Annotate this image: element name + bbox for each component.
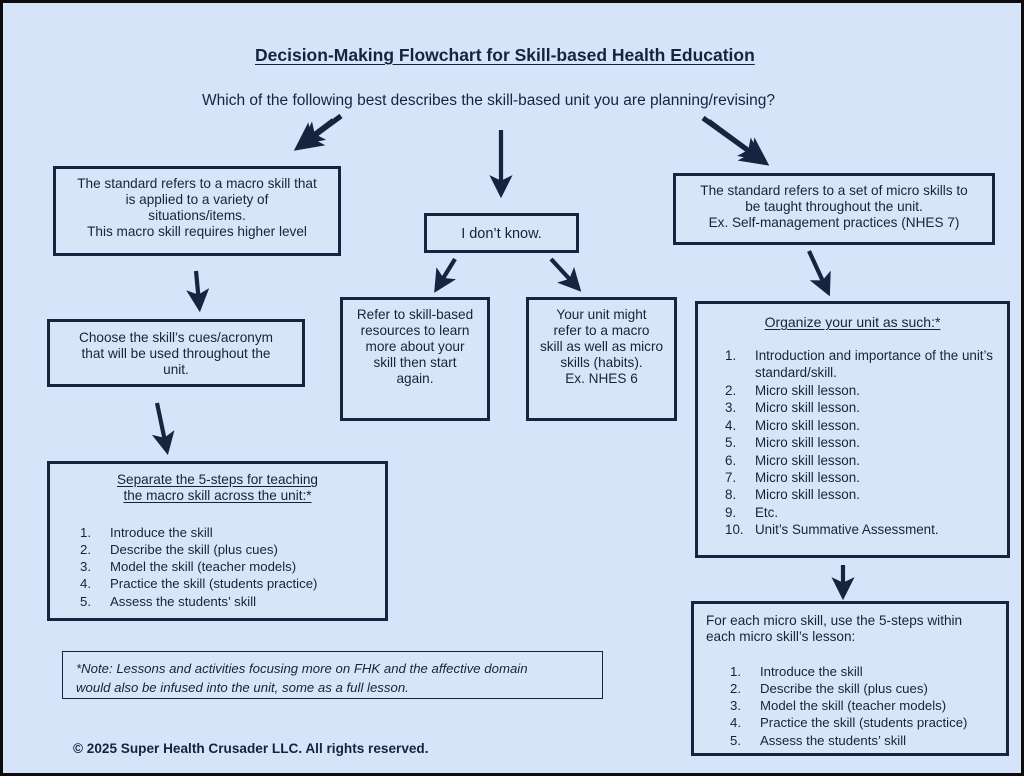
list-item: 1. Introduce the skill — [80, 524, 377, 541]
box-note: *Note: Lessons and activities focusing m… — [62, 651, 603, 699]
list-item: 10. Unit’s Summative Assessment. — [725, 521, 997, 538]
box-organize-unit-header: Organize your unit as such:* — [698, 314, 1007, 331]
box-separate-steps-header-line1: Separate the 5-steps for teaching — [50, 472, 385, 488]
list-item-label: Introduction and importance of the unit’… — [755, 347, 997, 382]
box-choose-cues-line2: that will be used throughout the — [50, 346, 302, 362]
box-unit-might-line5: Ex. NHES 6 — [529, 371, 674, 387]
separate-steps-list: 1. Introduce the skill 2. Describe the s… — [80, 524, 377, 610]
box-unit-might-line2: refer to a macro — [529, 323, 674, 339]
list-item-label: Micro skill lesson. — [755, 452, 997, 469]
box-unit-might-line4: skills (habits). — [529, 355, 674, 371]
arrow-question-to-micro-shaft — [703, 118, 760, 159]
list-item-number: 1. — [725, 347, 755, 382]
list-item-label: Micro skill lesson. — [755, 417, 997, 434]
box-micro-standard-line1: The standard refers to a set of micro sk… — [676, 183, 992, 199]
list-item-label: Model the skill (teacher models) — [110, 558, 377, 575]
box-refer-resources: Refer to skill-based resources to learn … — [340, 297, 490, 421]
list-item: 7. Micro skill lesson. — [725, 469, 997, 486]
list-item-number: 4. — [725, 417, 755, 434]
list-item: 4. Practice the skill (students practice… — [80, 575, 377, 592]
list-item-label: Micro skill lesson. — [755, 399, 997, 416]
note-line2: would also be infused into the unit, som… — [76, 678, 594, 697]
arrow-choose-cues-to-separate-steps — [157, 403, 166, 446]
list-item-label: Micro skill lesson. — [755, 434, 997, 451]
arrow-dontknow-to-refer-resources — [439, 259, 455, 285]
box-organize-unit: Organize your unit as such:* 1. Introduc… — [695, 301, 1010, 558]
root-question: Which of the following best describes th… — [202, 92, 775, 110]
arrow-question-to-micro — [709, 121, 755, 155]
list-item: 5. Assess the students’ skill — [730, 732, 998, 749]
list-item: 5. Micro skill lesson. — [725, 434, 997, 451]
copyright-text: © 2025 Super Health Crusader LLC. All ri… — [73, 741, 429, 756]
box-separate-steps-header-line2: the macro skill across the unit:* — [50, 488, 385, 504]
list-item-label: Micro skill lesson. — [755, 382, 997, 399]
list-item: 3. Micro skill lesson. — [725, 399, 997, 416]
box-choose-cues: Choose the skill’s cues/acronym that wil… — [47, 319, 305, 387]
list-item: 2. Micro skill lesson. — [725, 382, 997, 399]
box-choose-cues-line1: Choose the skill’s cues/acronym — [50, 330, 302, 346]
list-item-label: Introduce the skill — [110, 524, 377, 541]
arrow-question-to-macro — [308, 120, 333, 139]
list-item-number: 3. — [725, 399, 755, 416]
box-unit-might-line1: Your unit might — [529, 307, 674, 323]
list-item-label: Assess the students’ skill — [110, 593, 377, 610]
list-item: 3. Model the skill (teacher models) — [730, 697, 998, 714]
list-item-number: 1. — [80, 524, 110, 541]
box-refer-resources-line1: Refer to skill-based — [343, 307, 487, 323]
list-item: 1. Introduction and importance of the un… — [725, 347, 997, 382]
list-item-number: 2. — [80, 541, 110, 558]
box-micro-five-steps-header-line2: each micro skill’s lesson: — [706, 629, 996, 645]
list-item-number: 2. — [725, 382, 755, 399]
list-item: 2. Describe the skill (plus cues) — [80, 541, 377, 558]
box-macro-standard-line3: situations/items. — [56, 208, 338, 224]
box-macro-standard: The standard refers to a macro skill tha… — [53, 166, 341, 256]
list-item-number: 2. — [730, 680, 760, 697]
page-title: Decision-Making Flowchart for Skill-base… — [255, 45, 755, 66]
list-item-label: Describe the skill (plus cues) — [760, 680, 998, 697]
list-item-label: Unit’s Summative Assessment. — [755, 521, 997, 538]
list-item-label: Introduce the skill — [760, 663, 998, 680]
list-item: 3. Model the skill (teacher models) — [80, 558, 377, 575]
list-item: 9. Etc. — [725, 504, 997, 521]
list-item-number: 3. — [80, 558, 110, 575]
box-micro-five-steps: For each micro skill, use the 5-steps wi… — [691, 601, 1009, 756]
list-item-number: 7. — [725, 469, 755, 486]
list-item-number: 4. — [80, 575, 110, 592]
list-item: 4. Micro skill lesson. — [725, 417, 997, 434]
list-item-label: Micro skill lesson. — [755, 469, 997, 486]
arrow-macro-to-choose-cues — [196, 271, 199, 303]
arrow-micro-to-organize-unit — [809, 251, 826, 288]
list-item-number: 5. — [80, 593, 110, 610]
box-micro-five-steps-header-line1: For each micro skill, use the 5-steps wi… — [706, 613, 996, 629]
box-refer-resources-line2: resources to learn — [343, 323, 487, 339]
list-item-number: 5. — [730, 732, 760, 749]
list-item-label: Practice the skill (students practice) — [760, 714, 998, 731]
box-refer-resources-line4: skill then start — [343, 355, 487, 371]
box-refer-resources-line5: again. — [343, 371, 487, 387]
micro-five-steps-list: 1. Introduce the skill 2. Describe the s… — [730, 663, 998, 749]
list-item: 1. Introduce the skill — [730, 663, 998, 680]
list-item: 8. Micro skill lesson. — [725, 486, 997, 503]
box-separate-steps: Separate the 5-steps for teaching the ma… — [47, 461, 388, 621]
note-text: *Note: Lessons and activities focusing m… — [76, 659, 594, 697]
box-macro-standard-line1: The standard refers to a macro skill tha… — [56, 176, 338, 192]
box-dont-know-text: I don’t know. — [427, 226, 576, 243]
list-item-label: Describe the skill (plus cues) — [110, 541, 377, 558]
arrow-dontknow-to-unit-might — [551, 259, 575, 285]
box-micro-standard-line2: be taught throughout the unit. — [676, 199, 992, 215]
list-item-label: Practice the skill (students practice) — [110, 575, 377, 592]
list-item-number: 1. — [730, 663, 760, 680]
list-item-label: Model the skill (teacher models) — [760, 697, 998, 714]
box-unit-might-line3: skill as well as micro — [529, 339, 674, 355]
list-item: 2. Describe the skill (plus cues) — [730, 680, 998, 697]
list-item-number: 8. — [725, 486, 755, 503]
box-refer-resources-line3: more about your — [343, 339, 487, 355]
list-item-label: Micro skill lesson. — [755, 486, 997, 503]
organize-unit-list: 1. Introduction and importance of the un… — [725, 347, 997, 539]
box-macro-standard-line4: This macro skill requires higher level — [56, 224, 338, 240]
list-item-number: 9. — [725, 504, 755, 521]
box-macro-standard-line2: is applied to a variety of — [56, 192, 338, 208]
list-item-number: 3. — [730, 697, 760, 714]
list-item-label: Assess the students’ skill — [760, 732, 998, 749]
box-micro-standard: The standard refers to a set of micro sk… — [673, 173, 995, 245]
box-unit-might: Your unit might refer to a macro skill a… — [526, 297, 677, 421]
list-item-number: 5. — [725, 434, 755, 451]
list-item: 4. Practice the skill (students practice… — [730, 714, 998, 731]
box-choose-cues-line3: unit. — [50, 362, 302, 378]
list-item: 5. Assess the students’ skill — [80, 593, 377, 610]
flowchart-canvas: Decision-Making Flowchart for Skill-base… — [0, 0, 1024, 776]
list-item-number: 6. — [725, 452, 755, 469]
arrow-question-to-macro-shaft — [303, 116, 341, 144]
list-item-label: Etc. — [755, 504, 997, 521]
list-item-number: 4. — [730, 714, 760, 731]
note-line1: *Note: Lessons and activities focusing m… — [76, 659, 594, 678]
list-item-number: 10. — [725, 521, 755, 538]
box-dont-know: I don’t know. — [424, 213, 579, 253]
box-micro-standard-line3: Ex. Self-management practices (NHES 7) — [676, 215, 992, 231]
list-item: 6. Micro skill lesson. — [725, 452, 997, 469]
